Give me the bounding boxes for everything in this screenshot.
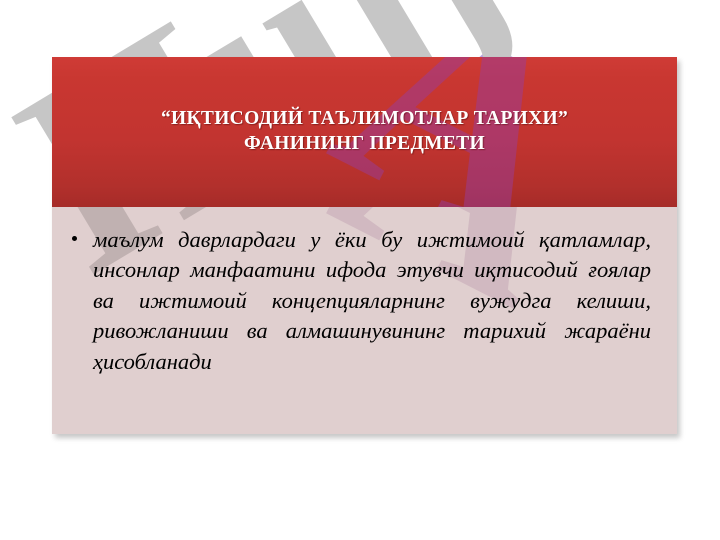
content-card: A “ИҚТИСОДИЙ ТАЪЛИМОТЛАР ТАРИХИ” ФАНИНИН… — [52, 57, 677, 434]
bullet-list: маълум даврлардаги у ёки бу ижтимоий қат… — [52, 207, 677, 401]
list-item: маълум даврлардаги у ёки бу ижтимоий қат… — [72, 225, 651, 377]
bullet-dot-icon — [72, 236, 77, 241]
list-item-text: маълум даврлардаги у ёки бу ижтимоий қат… — [93, 227, 651, 374]
slide-canvas: A Hujjat A “ИҚТИСОДИЙ ТАЪЛИМОТЛАР ТАРИХИ… — [0, 0, 720, 540]
slide-title-line-1: “ИҚТИСОДИЙ ТАЪЛИМОТЛАР ТАРИХИ” — [74, 107, 655, 132]
slide-title: “ИҚТИСОДИЙ ТАЪЛИМОТЛАР ТАРИХИ” ФАНИНИНГ … — [52, 107, 677, 157]
title-band: A “ИҚТИСОДИЙ ТАЪЛИМОТЛАР ТАРИХИ” ФАНИНИН… — [52, 57, 677, 207]
slide-title-line-2: ФАНИНИНГ ПРЕДМЕТИ — [74, 132, 655, 157]
body-band: Hujjat A маълум даврлардаги у ёки бу ижт… — [52, 207, 677, 434]
